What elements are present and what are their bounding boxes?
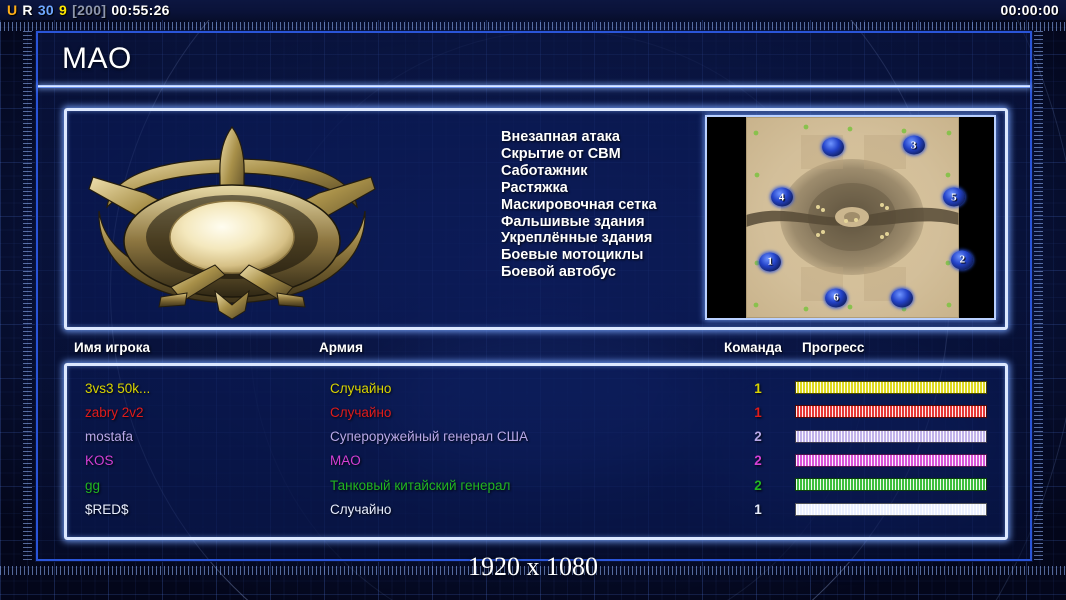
page-title: MAO: [62, 42, 132, 76]
ruler-ticks-right: [1034, 31, 1043, 561]
map-start-position-empty: [891, 288, 913, 307]
player-name: 3vs3 50k...: [85, 381, 150, 396]
ability-item: Растяжка: [501, 180, 657, 197]
player-army: Танковый китайский генерал: [330, 478, 510, 493]
map-start-position-3: 3: [903, 136, 925, 155]
status-prefix-r: R: [22, 2, 32, 18]
status-right-clock: 00:00:00: [1001, 2, 1059, 18]
map-preview[interactable]: 345126: [705, 115, 996, 320]
player-progress-bar: [795, 454, 987, 467]
map-start-position-4: 4: [771, 188, 793, 207]
player-rows: 3vs3 50k...Случайно1zabry 2v2Случайно1mo…: [67, 366, 1005, 537]
resolution-label: 1920 x 1080: [0, 552, 1066, 582]
player-team: 2: [743, 453, 773, 468]
ability-item: Фальшивые здания: [501, 214, 657, 231]
player-progress-fill: [796, 382, 986, 393]
status-bar: U R 30 9 [200] 00:55:26 00:00:00: [0, 0, 1066, 20]
ability-item: Укреплённые здания: [501, 230, 657, 247]
player-army: Случайно: [330, 381, 391, 396]
table-row[interactable]: 3vs3 50k...Случайно1: [67, 376, 1005, 400]
status-fps: 30: [38, 2, 54, 18]
player-team: 2: [743, 429, 773, 444]
player-progress-fill: [796, 431, 986, 442]
map-preview-image: [746, 117, 959, 318]
player-progress-bar: [795, 503, 987, 516]
player-team: 1: [743, 502, 773, 517]
ruler-ticks-top: [0, 22, 1066, 31]
column-header-army: Армия: [319, 340, 363, 355]
status-bracket: [200]: [72, 2, 106, 18]
general-info-panel: Внезапная атакаСкрытие от СВМСаботажникР…: [64, 108, 1008, 330]
map-start-position-1: 1: [759, 252, 781, 271]
table-row[interactable]: ggТанковый китайский генерал2: [67, 473, 1005, 497]
gla-emblem-icon: [87, 115, 377, 327]
player-name: zabry 2v2: [85, 405, 144, 420]
lobby-window: MAO: [36, 31, 1032, 561]
title-divider: [38, 85, 1030, 88]
map-start-position-empty: [822, 138, 844, 157]
player-progress-fill: [796, 504, 986, 515]
player-army: Случайно: [330, 502, 391, 517]
player-name: $RED$: [85, 502, 129, 517]
column-header-name: Имя игрока: [74, 340, 150, 355]
column-header-progress: Прогресс: [802, 340, 864, 355]
player-team: 1: [743, 405, 773, 420]
map-start-position-2: 2: [951, 250, 973, 269]
general-emblem: [87, 115, 377, 327]
player-team: 2: [743, 478, 773, 493]
ability-item: Внезапная атака: [501, 129, 657, 146]
player-list-panel: 3vs3 50k...Случайно1zabry 2v2Случайно1mo…: [64, 363, 1008, 540]
table-row[interactable]: mostafaСупероружейный генерал США2: [67, 425, 1005, 449]
player-progress-bar: [795, 381, 987, 394]
status-clock: 00:55:26: [111, 2, 169, 18]
player-name: gg: [85, 478, 100, 493]
ability-item: Маскировочная сетка: [501, 197, 657, 214]
player-progress-bar: [795, 478, 987, 491]
table-row[interactable]: KOSMAO2: [67, 449, 1005, 473]
ability-item: Боевой автобус: [501, 264, 657, 281]
player-name: KOS: [85, 453, 114, 468]
ability-item: Скрытие от СВМ: [501, 146, 657, 163]
player-name: mostafa: [85, 429, 133, 444]
player-table-header: Имя игрока Армия Команда Прогресс: [74, 340, 1034, 362]
player-army: MAO: [330, 453, 361, 468]
map-start-position-6: 6: [825, 288, 847, 307]
table-row[interactable]: zabry 2v2Случайно1: [67, 400, 1005, 424]
map-start-position-5: 5: [943, 188, 965, 207]
player-progress-bar: [795, 405, 987, 418]
table-row[interactable]: $RED$Случайно1: [67, 498, 1005, 522]
ruler-ticks-left: [23, 31, 32, 561]
window-titlebar: MAO: [38, 33, 1030, 85]
general-abilities-list: Внезапная атакаСкрытие от СВМСаботажникР…: [501, 129, 657, 281]
player-army: Случайно: [330, 405, 391, 420]
status-counter: 9: [59, 2, 67, 18]
player-progress-bar: [795, 430, 987, 443]
player-progress-fill: [796, 406, 986, 417]
column-header-team: Команда: [724, 340, 782, 355]
ability-item: Саботажник: [501, 163, 657, 180]
player-team: 1: [743, 381, 773, 396]
ability-item: Боевые мотоциклы: [501, 247, 657, 264]
player-progress-fill: [796, 455, 986, 466]
player-army: Супероружейный генерал США: [330, 429, 528, 444]
status-prefix-u: U: [7, 2, 17, 18]
player-progress-fill: [796, 479, 986, 490]
